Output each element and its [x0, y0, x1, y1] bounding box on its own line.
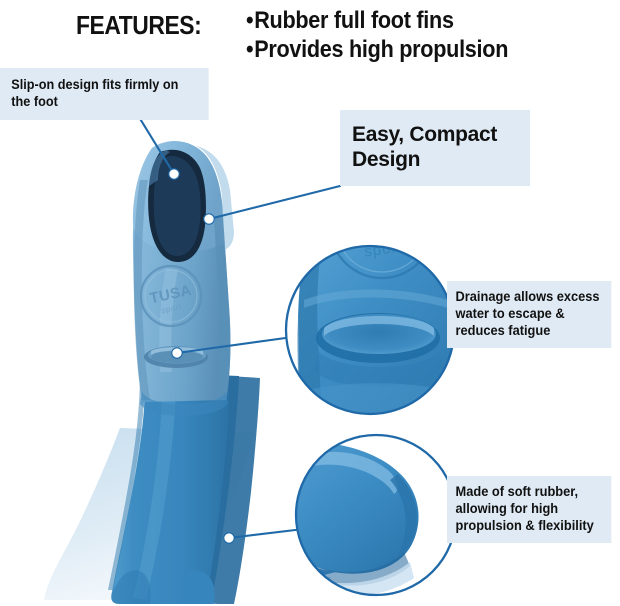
drainage-leader [177, 336, 300, 353]
leader-endpoint-dots [169, 169, 234, 543]
inset-drainage-closeup: TUSA sport [286, 174, 462, 424]
fin-foot-pocket: TUSA sport [133, 141, 234, 416]
svg-text:sport: sport [160, 302, 182, 315]
callout-soft-rubber: Made of soft rubber, allowing for high p… [447, 476, 611, 543]
svg-text:TUSA: TUSA [344, 203, 418, 243]
callout-easy-compact: Easy, Compact Design [340, 110, 530, 186]
fin-reflection [44, 428, 254, 600]
easy-compact-leader [209, 186, 340, 219]
drainage-port [144, 346, 208, 368]
blade-leader [229, 528, 312, 538]
feature-bullet-text: Rubber full foot fins [254, 7, 454, 34]
callout-slip-on: Slip-on design fits firmly on the foot [0, 68, 209, 120]
callout-drainage: Drainage allows excess water to escape &… [447, 281, 611, 348]
svg-text:sport: sport [363, 238, 403, 260]
fin-blade [108, 372, 260, 604]
product-features-infographic: TUSA sport [0, 0, 620, 606]
bullet-marker-icon: • [246, 36, 253, 63]
bullet-marker-icon: • [246, 7, 253, 34]
feature-bullet-list: •Rubber full foot fins •Provides high pr… [246, 6, 616, 65]
leader-lines [131, 104, 340, 538]
feature-bullet-item: •Rubber full foot fins [246, 6, 579, 35]
tusa-emblem: TUSA sport [141, 266, 201, 326]
feature-bullet-item: •Provides high propulsion [246, 35, 579, 64]
page-title: FEATURES: [76, 10, 201, 41]
svg-text:TUSA: TUSA [148, 282, 193, 307]
inset-blade-closeup [250, 435, 456, 597]
feature-bullet-text: Provides high propulsion [254, 36, 508, 63]
